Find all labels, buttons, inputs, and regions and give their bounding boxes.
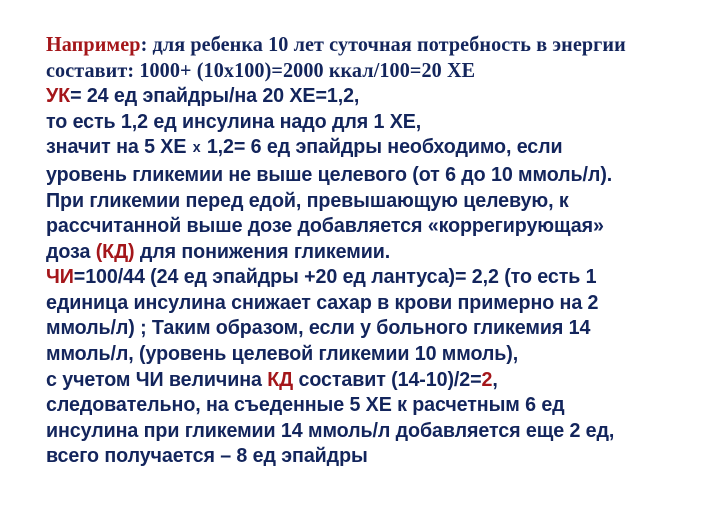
emphasis-text: 2 <box>482 368 493 391</box>
text-line: значит на 5 ХЕ х 1,2= 6 ед эпайдры необх… <box>46 134 563 162</box>
text-line: доза (КД) для понижения гликемии. <box>46 239 390 265</box>
body-text: =100/44 (24 ед эпайдры +20 ед лантуса)= … <box>74 265 597 288</box>
text-line: ммоль/л) ; Таким образом, если у больног… <box>46 315 590 341</box>
emphasis-text: (КД) <box>96 240 135 263</box>
body-text: составит (14-10)/2= <box>293 368 481 391</box>
body-text: х <box>192 140 202 156</box>
body-text: то есть 1,2 ед инсулина надо для 1 ХЕ, <box>46 110 421 133</box>
body-text: значит на 5 ХЕ <box>46 135 192 158</box>
emphasis-text: ЧИ <box>46 265 74 288</box>
slide-text-body: Например: для ребенка 10 лет суточная по… <box>46 31 694 469</box>
text-line: ммоль/л, (уровень целевой гликемии 10 мм… <box>46 341 518 367</box>
text-line: уровень гликемии не выше целевого (от 6 … <box>46 162 612 188</box>
text-line: При гликемии перед едой, превышающую цел… <box>46 188 569 214</box>
body-text: всего получается – 8 ед эпайдры <box>46 444 368 467</box>
body-text: рассчитанной выше дозе добавляется «корр… <box>46 214 604 237</box>
body-text: 1,2= 6 ед эпайдры необходимо, если <box>201 135 562 158</box>
body-text: = 24 ед эпайдры/на 20 ХЕ=1,2, <box>70 84 359 107</box>
emphasis-text: Например <box>46 32 141 56</box>
text-line: единица инсулина снижает сахар в крови п… <box>46 290 598 316</box>
body-text: ммоль/л) ; Таким образом, если у больног… <box>46 316 590 339</box>
text-line: ЧИ=100/44 (24 ед эпайдры +20 ед лантуса)… <box>46 264 596 290</box>
text-line: всего получается – 8 ед эпайдры <box>46 443 368 469</box>
text-line: составит: 1000+ (10х100)=2000 ккал/100=2… <box>46 57 475 83</box>
body-text: При гликемии перед едой, превышающую цел… <box>46 189 569 212</box>
text-line: рассчитанной выше дозе добавляется «корр… <box>46 213 604 239</box>
text-line: Например: для ребенка 10 лет суточная по… <box>46 31 626 57</box>
text-line: с учетом ЧИ величина КД составит (14-10)… <box>46 367 498 393</box>
text-line: инсулина при гликемии 14 ммоль/л добавля… <box>46 418 614 444</box>
body-text: единица инсулина снижает сахар в крови п… <box>46 291 598 314</box>
text-line: УК= 24 ед эпайдры/на 20 ХЕ=1,2, <box>46 83 359 109</box>
slide-canvas: Например: для ребенка 10 лет суточная по… <box>0 0 720 531</box>
body-text: , <box>492 368 497 391</box>
text-line: то есть 1,2 ед инсулина надо для 1 ХЕ, <box>46 109 421 135</box>
body-text: ммоль/л, (уровень целевой гликемии 10 мм… <box>46 342 518 365</box>
emphasis-text: КД <box>267 368 293 391</box>
body-text: с учетом ЧИ величина <box>46 368 267 391</box>
body-text: следовательно, на съеденные 5 ХЕ к расче… <box>46 393 565 416</box>
body-text: : для ребенка 10 лет суточная потребност… <box>141 32 626 56</box>
body-text: доза <box>46 240 96 263</box>
emphasis-text: УК <box>46 84 70 107</box>
body-text: составит: 1000+ (10х100)=2000 ккал/100=2… <box>46 58 475 82</box>
text-line: следовательно, на съеденные 5 ХЕ к расче… <box>46 392 565 418</box>
body-text: для понижения гликемии. <box>134 240 390 263</box>
body-text: уровень гликемии не выше целевого (от 6 … <box>46 163 612 186</box>
body-text: инсулина при гликемии 14 ммоль/л добавля… <box>46 419 614 442</box>
